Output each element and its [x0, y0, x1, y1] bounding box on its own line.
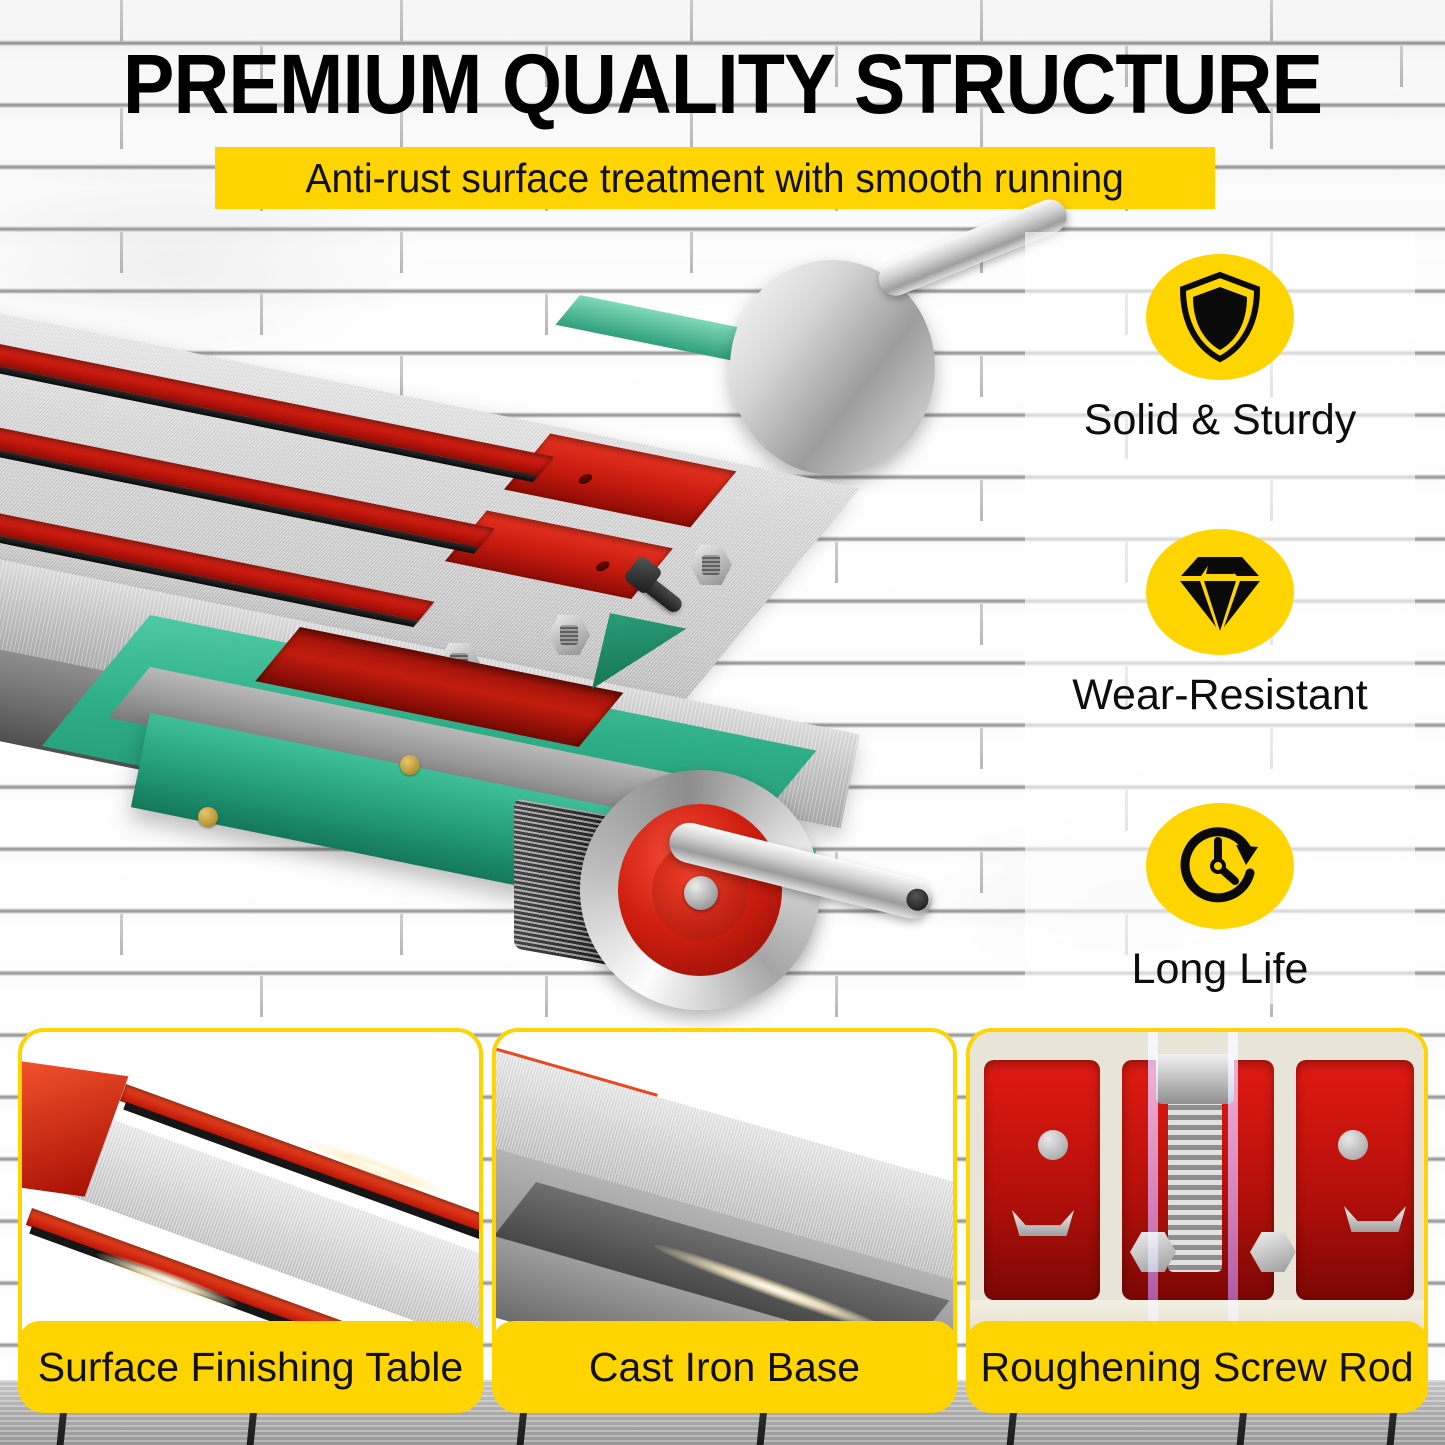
feature-label: Wear-Resistant: [1072, 671, 1368, 720]
subtitle-banner: Anti-rust surface treatment with smooth …: [215, 147, 1215, 209]
thumbnail-caption-text: Roughening Screw Rod: [980, 1344, 1413, 1391]
diamond-badge: [1146, 529, 1294, 655]
product-banner: PREMIUM QUALITY STRUCTURE Anti-rust surf…: [0, 0, 1445, 1445]
feature-long-life: Long Life: [1132, 803, 1309, 994]
subtitle-text: Anti-rust surface treatment with smooth …: [306, 155, 1124, 202]
brass-screw: [400, 755, 420, 775]
page-title: PREMIUM QUALITY STRUCTURE: [58, 36, 1387, 133]
shield-icon: [1177, 271, 1263, 363]
thumbnail-caption: Surface Finishing Table: [18, 1321, 483, 1413]
diamond-icon: [1174, 549, 1266, 635]
shield-badge: [1146, 254, 1294, 380]
feature-list: Solid & Sturdy Wear-Resistant: [1025, 232, 1415, 1004]
thumbnail-caption: Roughening Screw Rod: [966, 1321, 1428, 1413]
feature-label: Long Life: [1132, 945, 1309, 994]
thumbnail-caption-text: Surface Finishing Table: [38, 1344, 463, 1391]
upper-handwheel: [730, 260, 935, 475]
thumbnail-card-surface-finishing-table[interactable]: Surface Finishing Table: [18, 1028, 483, 1413]
clock-badge: [1146, 803, 1294, 929]
lower-handwheel: [580, 770, 820, 1010]
thumbnail-card-roughening-screw-rod[interactable]: Roughening Screw Rod: [966, 1028, 1428, 1413]
feature-solid-sturdy: Solid & Sturdy: [1084, 254, 1356, 445]
handwheel-center-bolt: [684, 876, 718, 910]
thumbnail-caption-text: Cast Iron Base: [589, 1344, 860, 1391]
product-illustration: [0, 215, 1030, 1015]
feature-wear-resistant: Wear-Resistant: [1072, 529, 1368, 720]
thumbnail-card-cast-iron-base[interactable]: Cast Iron Base: [492, 1028, 957, 1413]
clock-arrow-icon: [1174, 821, 1266, 911]
brass-screw: [198, 807, 218, 827]
thumbnail-caption: Cast Iron Base: [492, 1321, 957, 1413]
feature-label: Solid & Sturdy: [1084, 396, 1356, 445]
